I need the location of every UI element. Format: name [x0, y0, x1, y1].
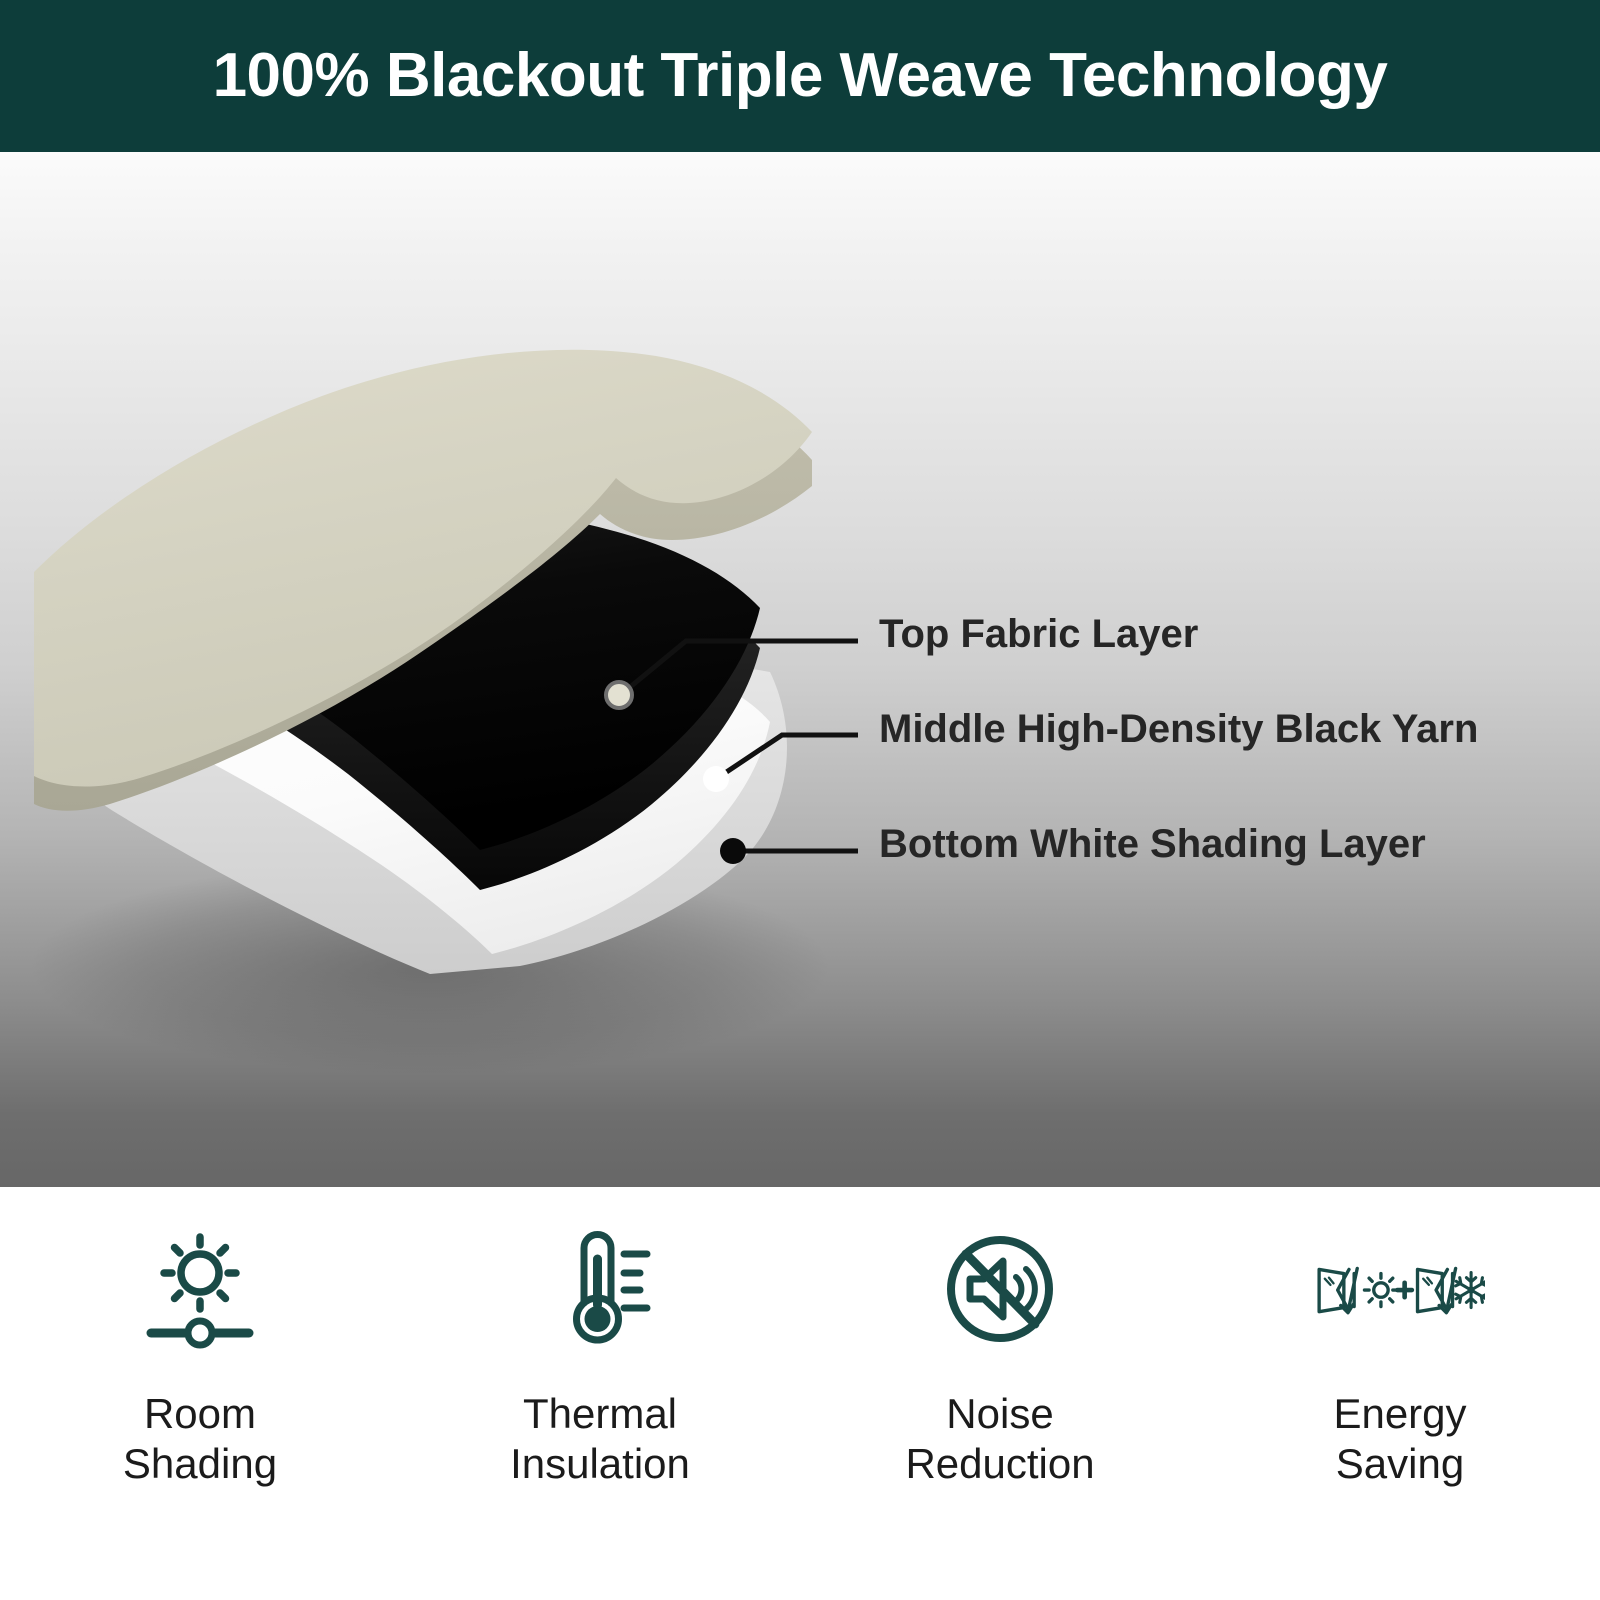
feature-label-energy-saving: Energy Saving	[1333, 1389, 1466, 1488]
feature-thermal-insulation: Thermal Insulation	[400, 1187, 800, 1600]
thermometer-icon	[515, 1229, 685, 1349]
window-snowflake-group	[1418, 1268, 1485, 1312]
callout-label-bottom-shading: Bottom White Shading Layer	[879, 824, 1426, 864]
marker-middle-yarn	[703, 766, 729, 792]
plus-icon	[1397, 1283, 1411, 1297]
feature-label-line2: Saving	[1333, 1439, 1466, 1489]
feature-label-room-shading: Room Shading	[123, 1389, 277, 1488]
leader-line-bottom-shading	[720, 838, 858, 864]
callout-label-top-fabric: Top Fabric Layer	[879, 614, 1198, 654]
feature-label-line2: Reduction	[905, 1439, 1094, 1489]
window-sun-group	[1319, 1268, 1397, 1312]
header-banner: 100% Blackout Triple Weave Technology	[0, 0, 1600, 152]
feature-noise-reduction: Noise Reduction	[800, 1187, 1200, 1600]
page-title: 100% Blackout Triple Weave Technology	[213, 45, 1388, 107]
sun-shading-icon	[115, 1229, 285, 1349]
feature-label-noise-reduction: Noise Reduction	[905, 1389, 1094, 1488]
feature-label-thermal-insulation: Thermal Insulation	[510, 1389, 690, 1488]
feature-energy-saving: Energy Saving	[1200, 1187, 1600, 1600]
feature-row: Room Shading	[0, 1187, 1600, 1600]
fabric-layers-illustration	[0, 152, 1600, 1187]
muted-speaker-icon	[915, 1229, 1085, 1349]
feature-room-shading: Room Shading	[0, 1187, 400, 1600]
callout-label-middle-yarn: Middle High-Density Black Yarn	[879, 709, 1478, 749]
feature-label-line2: Shading	[123, 1439, 277, 1489]
window-sun-snowflake-icon	[1315, 1229, 1485, 1349]
feature-label-line1: Energy	[1333, 1389, 1466, 1439]
infographic-page: 100% Blackout Triple Weave Technology	[0, 0, 1600, 1600]
feature-label-line1: Room	[123, 1389, 277, 1439]
feature-label-line2: Insulation	[510, 1439, 690, 1489]
feature-label-line1: Thermal	[510, 1389, 690, 1439]
hero-illustration-area: Top Fabric Layer Middle High-Density Bla…	[0, 152, 1600, 1187]
marker-top-fabric	[606, 682, 632, 708]
marker-bottom-shading	[720, 838, 746, 864]
feature-label-line1: Noise	[905, 1389, 1094, 1439]
